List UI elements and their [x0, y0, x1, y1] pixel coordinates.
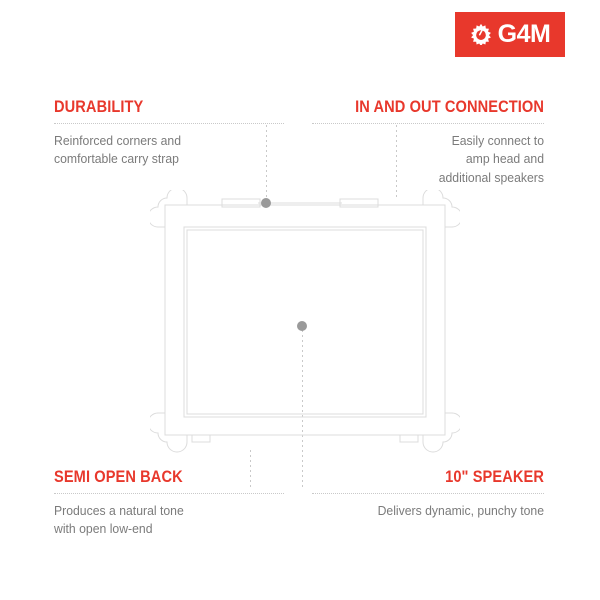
callout-semi-open-body: Produces a natural tone with open low-en… [54, 502, 270, 539]
callout-durability: DURABILITY Reinforced corners and comfor… [54, 98, 284, 169]
callout-connection-body: Easily connect to amp head and additiona… [326, 132, 544, 187]
speaker-center-marker [297, 321, 307, 331]
product-feature-diagram: G4M [0, 0, 600, 600]
callout-durability-rule [54, 123, 284, 125]
callout-speaker-title: 10" SPEAKER [344, 468, 544, 487]
corner-protector-top-left [150, 190, 187, 227]
callout-speaker-line-1: Delivers dynamic, punchy tone [326, 502, 544, 520]
callout-connection-rule [312, 123, 544, 125]
callout-connection-line-2: amp head and [326, 150, 544, 168]
foot-right [400, 435, 418, 442]
callout-connection-title: IN AND OUT CONNECTION [344, 98, 544, 117]
cabinet-outline [165, 205, 445, 435]
carry-handle-right [340, 199, 378, 207]
brand-logo: G4M [455, 12, 565, 57]
callout-durability-line-1: Reinforced corners and [54, 132, 270, 150]
callout-in-and-out-connection: IN AND OUT CONNECTION Easily connect to … [312, 98, 544, 187]
gear-icon [470, 23, 492, 45]
callout-speaker-body: Delivers dynamic, punchy tone [326, 502, 544, 520]
corner-protector-bottom-left [150, 413, 187, 452]
callout-speaker: 10" SPEAKER Delivers dynamic, punchy ton… [312, 468, 544, 520]
callout-semi-open-back: SEMI OPEN BACK Produces a natural tone w… [54, 468, 284, 539]
foot-left [192, 435, 210, 442]
carry-handle-left [222, 199, 260, 207]
callout-durability-title: DURABILITY [54, 98, 252, 117]
callout-semi-open-title: SEMI OPEN BACK [54, 468, 252, 487]
callout-semi-open-line-2: with open low-end [54, 520, 270, 538]
callout-semi-open-rule [54, 493, 284, 495]
brand-wordmark: G4M [498, 22, 551, 47]
corner-protector-bottom-right [423, 413, 460, 452]
callout-durability-line-2: comfortable carry strap [54, 150, 270, 168]
speaker-cabinet-illustration [150, 190, 460, 460]
callout-connection-line-1: Easily connect to [326, 132, 544, 150]
callout-speaker-rule [312, 493, 544, 495]
corner-protector-top-right [423, 190, 460, 227]
callout-durability-body: Reinforced corners and comfortable carry… [54, 132, 270, 169]
carry-strap-marker [261, 198, 271, 208]
callout-semi-open-line-1: Produces a natural tone [54, 502, 270, 520]
callout-connection-line-3: additional speakers [326, 169, 544, 187]
